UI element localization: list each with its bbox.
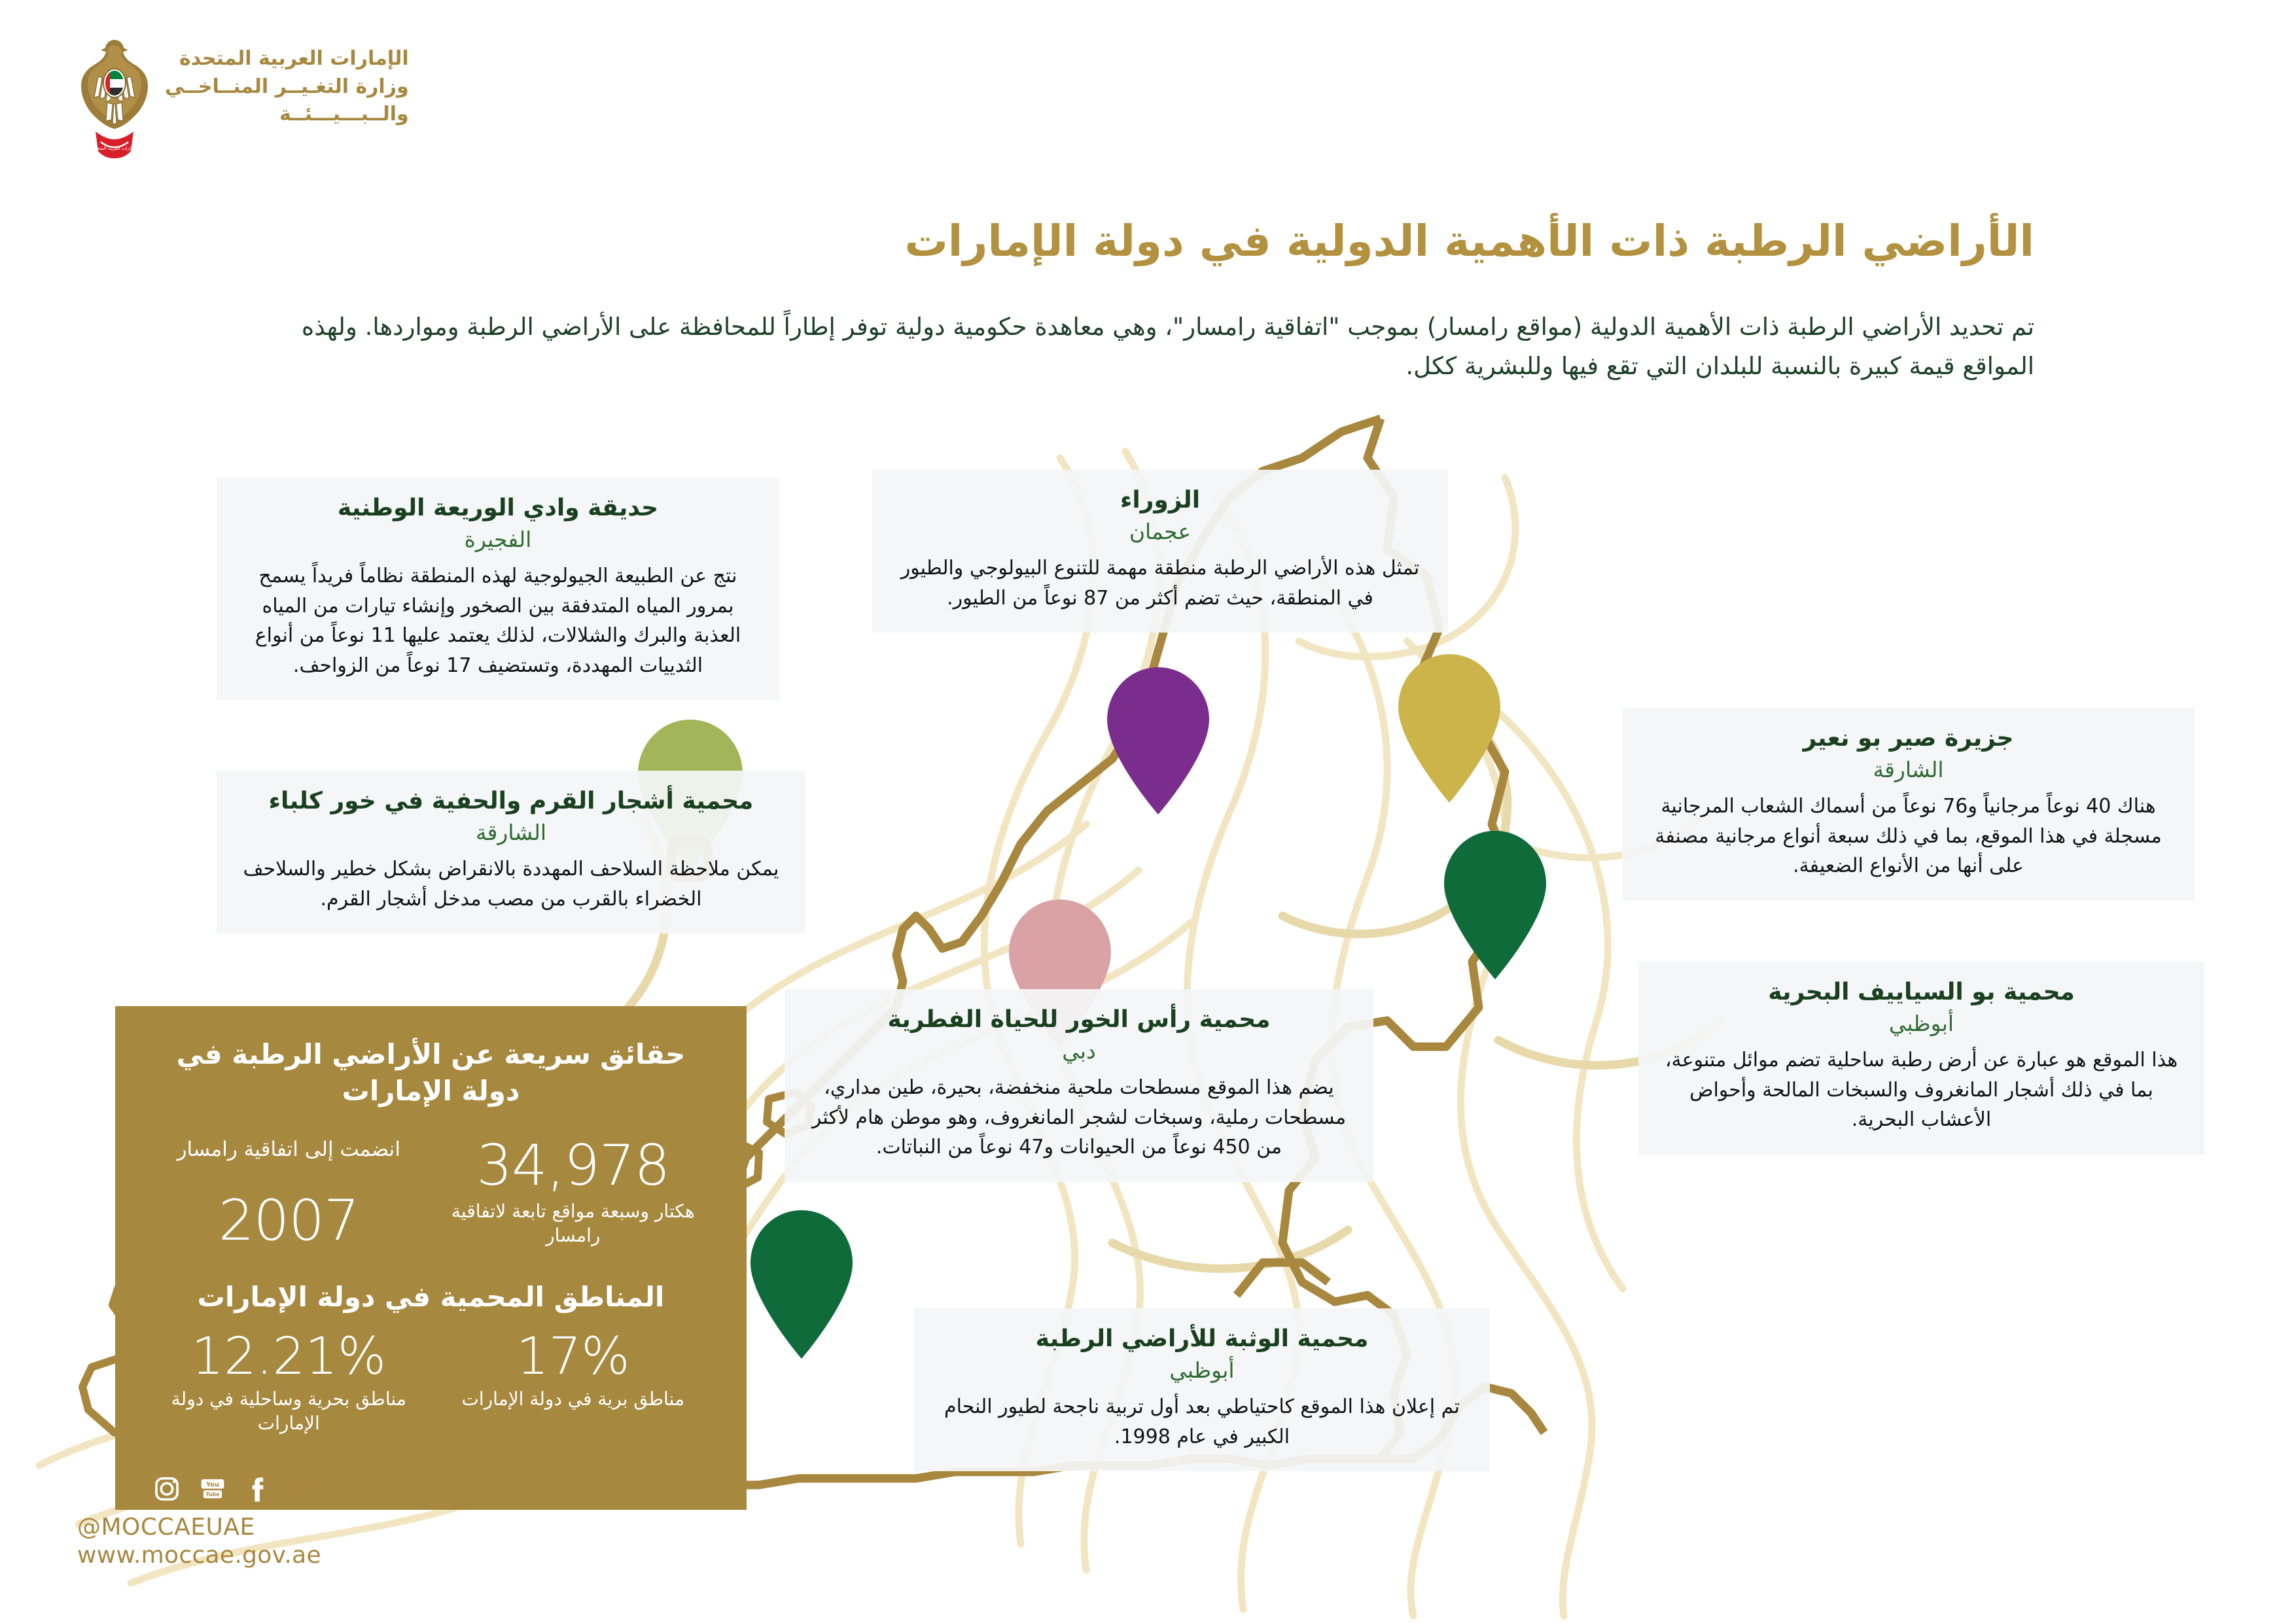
- facts-row-ramsar: 34,978 هكتار وسبعة مواقع تابعة لاتفاقية …: [147, 1136, 715, 1251]
- site-emirate: عجمان: [894, 519, 1426, 544]
- fact-joined-year: انضمت إلى اتفاقية رامسار 2007: [152, 1136, 425, 1251]
- svg-text:الإمارات العربية المتحدة: الإمارات العربية المتحدة: [92, 146, 137, 151]
- social-handle: @MOCCAEUAE: [77, 1514, 321, 1541]
- site-name: محمية الوثبة للأراضي الرطبة: [936, 1324, 1468, 1353]
- facebook-icon[interactable]: [241, 1472, 275, 1506]
- quick-facts-panel: حقائق سريعة عن الأراضي الرطبة في دولة ال…: [115, 1006, 747, 1510]
- instagram-icon[interactable]: [150, 1472, 184, 1506]
- site-description: نتج عن الطبيعة الجيولوجية لهذه المنطقة ن…: [239, 561, 757, 680]
- logo-country-name: الإمارات العربية المتحدة: [165, 45, 409, 73]
- site-card-kalba[interactable]: محمية أشجار القرم والحفية في خور كلباء ا…: [217, 771, 805, 934]
- site-emirate: أبوظبي: [1661, 1011, 2182, 1036]
- facts-row-protected: 17% مناطق برية في دولة الإمارات 12.21% م…: [147, 1330, 715, 1437]
- map-pin-kalba: [1444, 831, 1546, 979]
- joined-year-value: 2007: [152, 1191, 425, 1251]
- marine-label: مناطق بحرية وساحلية في دولة الإمارات: [152, 1387, 425, 1436]
- logo-ministry-line1: وزارة التغـيــر المنــاخــي: [165, 73, 409, 101]
- fact-marine: 12.21% مناطق بحرية وساحلية في دولة الإما…: [152, 1330, 425, 1437]
- site-emirate: أبوظبي: [936, 1357, 1468, 1383]
- intro-paragraph: تم تحديد الأراضي الرطبة ذات الأهمية الدو…: [261, 307, 2034, 386]
- social-icons-row: YouTube: [77, 1472, 321, 1506]
- terrestrial-value: 17%: [436, 1330, 709, 1384]
- hectares-value: 34,978: [436, 1136, 709, 1196]
- map-pin-zawraa: [1107, 667, 1209, 814]
- site-name: محمية رأس الخور للحياة الفطرية: [807, 1005, 1351, 1034]
- site-name: محمية أشجار القرم والحفية في خور كلباء: [239, 786, 783, 816]
- site-name: جزيرة صير بو نعير: [1644, 724, 2172, 753]
- website-url: www.moccae.gov.ae: [77, 1542, 321, 1569]
- terrestrial-label: مناطق برية في دولة الإمارات: [436, 1387, 709, 1412]
- svg-text:Tube: Tube: [206, 1492, 220, 1497]
- site-card-wathba[interactable]: محمية الوثبة للأراضي الرطبة أبوظبي تم إع…: [914, 1308, 1490, 1471]
- uae-falcon-emblem-icon: الإمارات العربية المتحدة: [79, 36, 150, 160]
- marine-value: 12.21%: [152, 1330, 425, 1384]
- joined-label: انضمت إلى اتفاقية رامسار: [152, 1136, 425, 1191]
- youtube-icon[interactable]: YouTube: [196, 1472, 230, 1506]
- map-pin-wurayah: [1398, 654, 1500, 803]
- ministry-logo: الإمارات العربية المتحدة الإمارات العربي…: [79, 36, 409, 160]
- svg-text:You: You: [205, 1482, 219, 1489]
- hectares-label: هكتار وسبعة مواقع تابعة لاتفاقية رامسار: [436, 1200, 709, 1248]
- protected-areas-title: المناطق المحمية في دولة الإمارات: [147, 1281, 715, 1313]
- facts-title: حقائق سريعة عن الأراضي الرطبة في دولة ال…: [147, 1036, 715, 1110]
- site-name: محمية بو السياييف البحرية: [1661, 977, 2182, 1007]
- site-description: تمثل هذه الأراضي الرطبة منطقة مهمة للتنو…: [894, 553, 1426, 613]
- site-emirate: الشارقة: [1644, 757, 2172, 782]
- site-card-sirbunair[interactable]: جزيرة صير بو نعير الشارقة هناك 40 نوعاً …: [1622, 708, 2195, 901]
- page-title: الأراضي الرطبة ذات الأهمية الدولية في دو…: [268, 216, 2034, 266]
- social-footer: YouTube @MOCCAEUAE www.moccae.gov.ae: [77, 1472, 321, 1569]
- site-description: هناك 40 نوعاً مرجانياً و76 نوعاً من أسما…: [1644, 792, 2172, 881]
- fact-terrestrial: 17% مناطق برية في دولة الإمارات: [436, 1330, 709, 1412]
- site-name: حديقة وادي الوريعة الوطنية: [239, 493, 757, 523]
- site-name: الزوراء: [894, 485, 1426, 515]
- site-emirate: دبي: [807, 1038, 1351, 1064]
- site-card-wurayah[interactable]: حديقة وادي الوريعة الوطنية الفجيرة نتج ع…: [217, 478, 779, 700]
- site-card-syayeef[interactable]: محمية بو السياييف البحرية أبوظبي هذا الم…: [1638, 962, 2204, 1155]
- site-description: يضم هذا الموقع مسطحات ملحية منخفضة، بحير…: [807, 1073, 1351, 1162]
- site-emirate: الشارقة: [239, 820, 783, 845]
- logo-ministry-line2: والــبـــيـــئــة: [165, 101, 409, 129]
- fact-hectares: 34,978 هكتار وسبعة مواقع تابعة لاتفاقية …: [436, 1136, 709, 1248]
- site-emirate: الفجيرة: [239, 527, 757, 552]
- site-card-zawraa[interactable]: الزوراء عجمان تمثل هذه الأراضي الرطبة من…: [872, 470, 1448, 633]
- site-card-raskhor[interactable]: محمية رأس الخور للحياة الفطرية دبي يضم ه…: [785, 989, 1373, 1182]
- map-pin-wathba: [751, 1210, 853, 1359]
- site-description: تم إعلان هذا الموقع كاحتياطي بعد أول ترب…: [936, 1392, 1468, 1452]
- twitter-icon[interactable]: [287, 1472, 321, 1506]
- site-description: يمكن ملاحظة السلاحف المهددة بالانقراض بش…: [239, 854, 783, 914]
- site-description: هذا الموقع هو عبارة عن أرض رطبة ساحلية ت…: [1661, 1045, 2182, 1135]
